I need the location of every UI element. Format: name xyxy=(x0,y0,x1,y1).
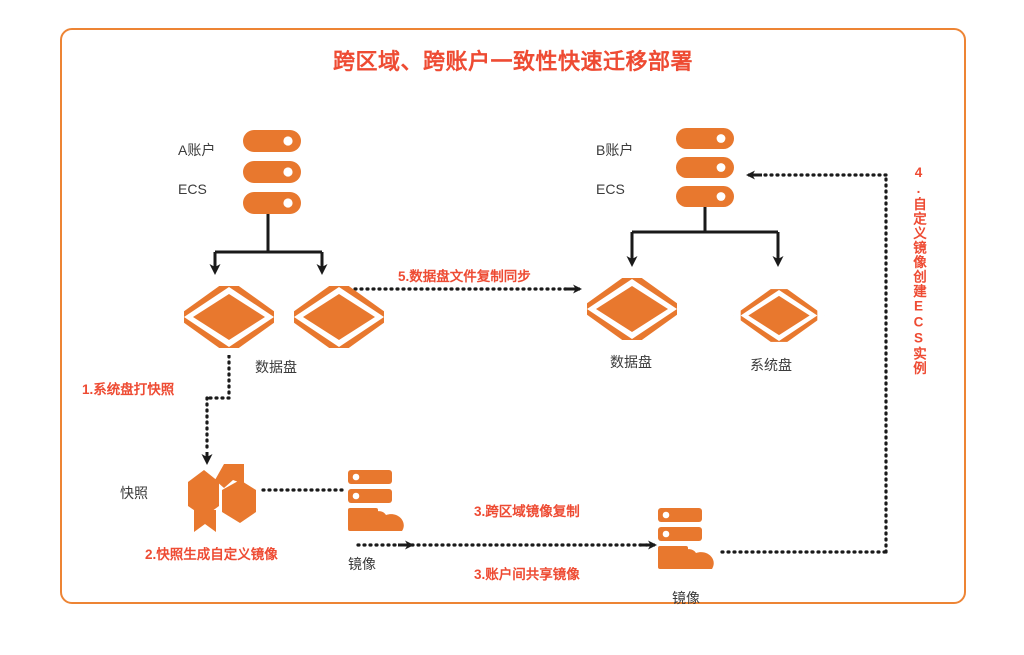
step-4-label: 4.自定义镜像创建ECS实例 xyxy=(908,165,928,376)
step-1-label: 1.系统盘打快照 xyxy=(82,378,174,398)
step-2-label: 2.快照生成自定义镜像 xyxy=(145,543,278,563)
step-3a-label: 3.跨区域镜像复制 xyxy=(474,500,580,520)
right-account-label: B账户 xyxy=(596,140,633,160)
disk-icon-left-data xyxy=(285,278,393,356)
left-data-disk-label: 数据盘 xyxy=(255,357,297,377)
disk-icon-left-system xyxy=(175,278,283,356)
snapshot-label: 快照 xyxy=(120,483,148,503)
server-stack-icon xyxy=(243,130,301,215)
diagram-canvas: 跨区域、跨账户一致性快速迁移部署 xyxy=(0,0,1024,655)
image-cloud-server-icon-left xyxy=(346,470,412,535)
disk-icon-right-data xyxy=(578,270,686,348)
left-account-label: A账户 xyxy=(178,140,215,160)
image-right-label: 镜像 xyxy=(672,588,700,608)
step-3b-label: 3.账户间共享镜像 xyxy=(474,563,580,583)
right-data-disk-label: 数据盘 xyxy=(610,352,652,372)
right-system-disk-label: 系统盘 xyxy=(750,355,792,375)
server-stack-icon-right xyxy=(676,128,734,208)
disk-icon-right-system xyxy=(733,282,825,349)
right-ecs-label: ECS xyxy=(596,181,625,197)
image-left-label: 镜像 xyxy=(348,554,376,574)
step-5-label: 5.数据盘文件复制同步 xyxy=(398,265,531,285)
left-ecs-label: ECS xyxy=(178,181,207,197)
snapshot-cubes-icon xyxy=(186,462,262,534)
page-title: 跨区域、跨账户一致性快速迁移部署 xyxy=(60,44,966,76)
image-cloud-server-icon-right xyxy=(656,508,722,573)
